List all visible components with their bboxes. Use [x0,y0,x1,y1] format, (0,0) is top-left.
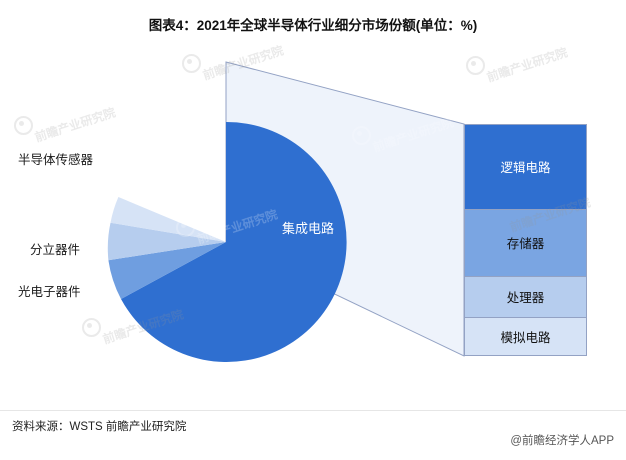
brand-note: @前瞻经济学人APP [510,432,614,448]
breakdown-segment-processor[interactable]: 处理器 [464,276,587,317]
pie-label-discrete-devices: 分立器件 [30,239,80,258]
breakdown-label-memory: 存储器 [507,233,545,252]
breakdown-segment-analog[interactable]: 模拟电路 [464,317,587,356]
footer-divider [0,410,626,411]
chart-figure: 图表4：2021年全球半导体行业细分市场份额(单位：%) 集成电路 光电子器件 … [0,0,626,460]
breakdown-label-processor: 处理器 [507,287,545,306]
pie-label-optoelectronics: 光电子器件 [18,281,81,300]
integrated-circuit-breakdown: 逻辑电路 存储器 处理器 模拟电路 [464,124,587,356]
source-note: 资料来源：WSTS 前瞻产业研究院 [12,418,186,434]
breakdown-label-analog: 模拟电路 [500,327,550,346]
pie-label-semiconductor-sensors: 半导体传感器 [18,149,93,168]
breakdown-label-logic: 逻辑电路 [500,157,550,176]
pie-label-integrated-circuit: 集成电路 [282,218,334,237]
breakdown-segment-logic[interactable]: 逻辑电路 [464,124,587,209]
breakdown-segment-memory[interactable]: 存储器 [464,209,587,276]
